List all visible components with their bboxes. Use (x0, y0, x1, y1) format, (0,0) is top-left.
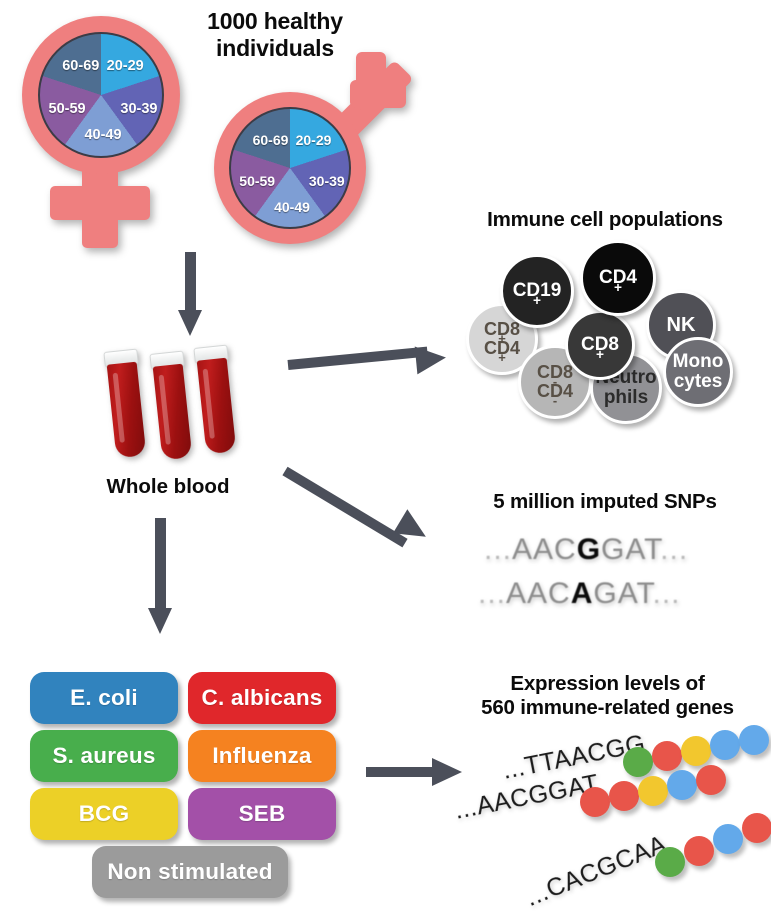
stimulus-label: Non stimulated (107, 859, 272, 885)
snp-ellipsis-right: ... (660, 533, 688, 566)
expression-bead (609, 781, 639, 811)
age-group-label-30-39: 30-39 (120, 101, 157, 117)
expression-bead (713, 824, 743, 854)
age-group-label-20-29: 20-29 (107, 58, 144, 74)
immune-cell-nk: NK (646, 290, 716, 360)
female-gender-symbol: 20-2930-3940-4950-5960-69 (12, 8, 192, 258)
snp-sequence-block: ...AACGGAT......AACAGAT... (478, 533, 768, 623)
stimulus-pill-e-coli[interactable]: E. coli (30, 672, 178, 724)
immune-cell-cd8-cd4: CD8+CD4+ (466, 303, 538, 375)
expression-bead (696, 765, 726, 795)
arrow-blood-to-immune-cells (288, 340, 468, 390)
immune-cell-label: Neutro (595, 368, 656, 388)
immune-cell-label: CD8+ (484, 320, 520, 339)
immune-cell-label-line2: cytes (673, 372, 724, 392)
expression-bead (742, 813, 771, 843)
stimulus-pill-c-albicans[interactable]: C. albicans (188, 672, 336, 724)
expression-bead (623, 747, 653, 777)
snp-flank-right: GAT (601, 533, 660, 566)
immune-cell-cd19: CD19+ (500, 254, 574, 328)
snp-sequence-row: ...AACAGAT... (478, 577, 681, 611)
snp-ellipsis-right: ... (653, 577, 681, 610)
age-group-label-50-59: 50-59 (239, 173, 275, 189)
immune-cell-label: CD8+ (581, 335, 619, 355)
expression-bead (580, 787, 610, 817)
immune-cell-label: NK (667, 315, 696, 336)
age-group-label-60-69: 60-69 (62, 58, 99, 74)
stimulus-label: SEB (239, 801, 286, 827)
expression-bead (655, 847, 685, 877)
stimulus-pill-non-stimulated[interactable]: Non stimulated (92, 846, 288, 898)
stimulus-pill-bcg[interactable]: BCG (30, 788, 178, 840)
expression-bead (739, 725, 769, 755)
snp-ellipsis-left: ... (484, 533, 512, 566)
immune-cell-cd8-cd4: CD8-CD4- (518, 345, 592, 419)
stimulus-pill-s-aureus[interactable]: S. aureus (30, 730, 178, 782)
expression-bead (710, 730, 740, 760)
age-group-label-60-69: 60-69 (253, 132, 289, 148)
figure-canvas: 1000 healthy individuals 20-2930-3940-49… (0, 0, 771, 922)
blood-collection-tubes-icon (104, 340, 264, 460)
whole-blood-label: Whole blood (78, 475, 258, 499)
stimulus-label: S. aureus (52, 743, 155, 769)
expression-bead (681, 736, 711, 766)
arrow-blood-to-snps (285, 458, 465, 568)
age-group-label-30-39: 30-39 (309, 173, 345, 189)
snp-sequence-row: ...AACGGAT... (484, 533, 688, 567)
stimulus-pill-seb[interactable]: SEB (188, 788, 336, 840)
snps-title: 5 million imputed SNPs (455, 490, 755, 514)
stimuli-panel: E. coliC. albicansS. aureusInfluenzaBCGS… (30, 672, 350, 902)
expression-bead (652, 741, 682, 771)
expression-title: Expression levels of 560 immune-related … (450, 672, 765, 720)
immune-cell-label: CD8- (537, 363, 573, 382)
stimulus-label: BCG (79, 801, 130, 827)
expression-bead (667, 770, 697, 800)
immune-cell-label-line2: phils (595, 388, 656, 408)
snp-variant-allele: A (571, 577, 594, 610)
expression-bead (638, 776, 668, 806)
immune-cell-cd4: CD4+ (580, 240, 656, 316)
age-group-label-50-59: 50-59 (49, 101, 86, 117)
snp-ellipsis-left: ... (478, 577, 506, 610)
immune-cell-label-line2: CD4+ (484, 339, 520, 358)
expression-sequence-label: ...CACGCAA (522, 830, 671, 913)
male-age-pie-chart: 20-2930-3940-4950-5960-69 (229, 107, 351, 229)
age-group-label-40-49: 40-49 (274, 199, 310, 215)
age-group-label-40-49: 40-49 (84, 127, 121, 143)
expression-bead (684, 836, 714, 866)
expression-title-line1: Expression levels of (450, 672, 765, 696)
expression-title-line2: 560 immune-related genes (450, 696, 765, 720)
male-gender-symbol: 20-2930-3940-4950-5960-69 (206, 52, 406, 252)
stimulus-label: C. albicans (202, 685, 323, 711)
immune-cell-neutro-phils: Neutrophils (590, 352, 662, 424)
stimulus-pill-influenza[interactable]: Influenza (188, 730, 336, 782)
page-title-line1: 1000 healthy (160, 8, 390, 35)
immune-cell-populations-title: Immune cell populations (455, 208, 755, 232)
snp-flank-left: AAC (512, 533, 577, 566)
immune-cell-label: CD4+ (599, 268, 637, 288)
immune-cell-label: CD19+ (513, 281, 562, 301)
immune-cell-cd8: CD8+ (565, 310, 635, 380)
gene-expression-strands: ...TTAACGG...AACGGAT...CACGCAA (455, 735, 771, 915)
immune-cell-label: Mono (673, 352, 724, 372)
stimulus-label: Influenza (212, 743, 311, 769)
snp-flank-right: GAT (593, 577, 652, 610)
snp-variant-allele: G (577, 533, 601, 566)
immune-cell-mono-cytes: Monocytes (663, 337, 733, 407)
age-group-label-20-29: 20-29 (296, 132, 332, 148)
immune-cell-label-line2: CD4- (537, 382, 573, 401)
female-age-pie-chart: 20-2930-3940-4950-5960-69 (38, 32, 164, 158)
snp-flank-left: AAC (506, 577, 571, 610)
stimulus-label: E. coli (70, 685, 138, 711)
